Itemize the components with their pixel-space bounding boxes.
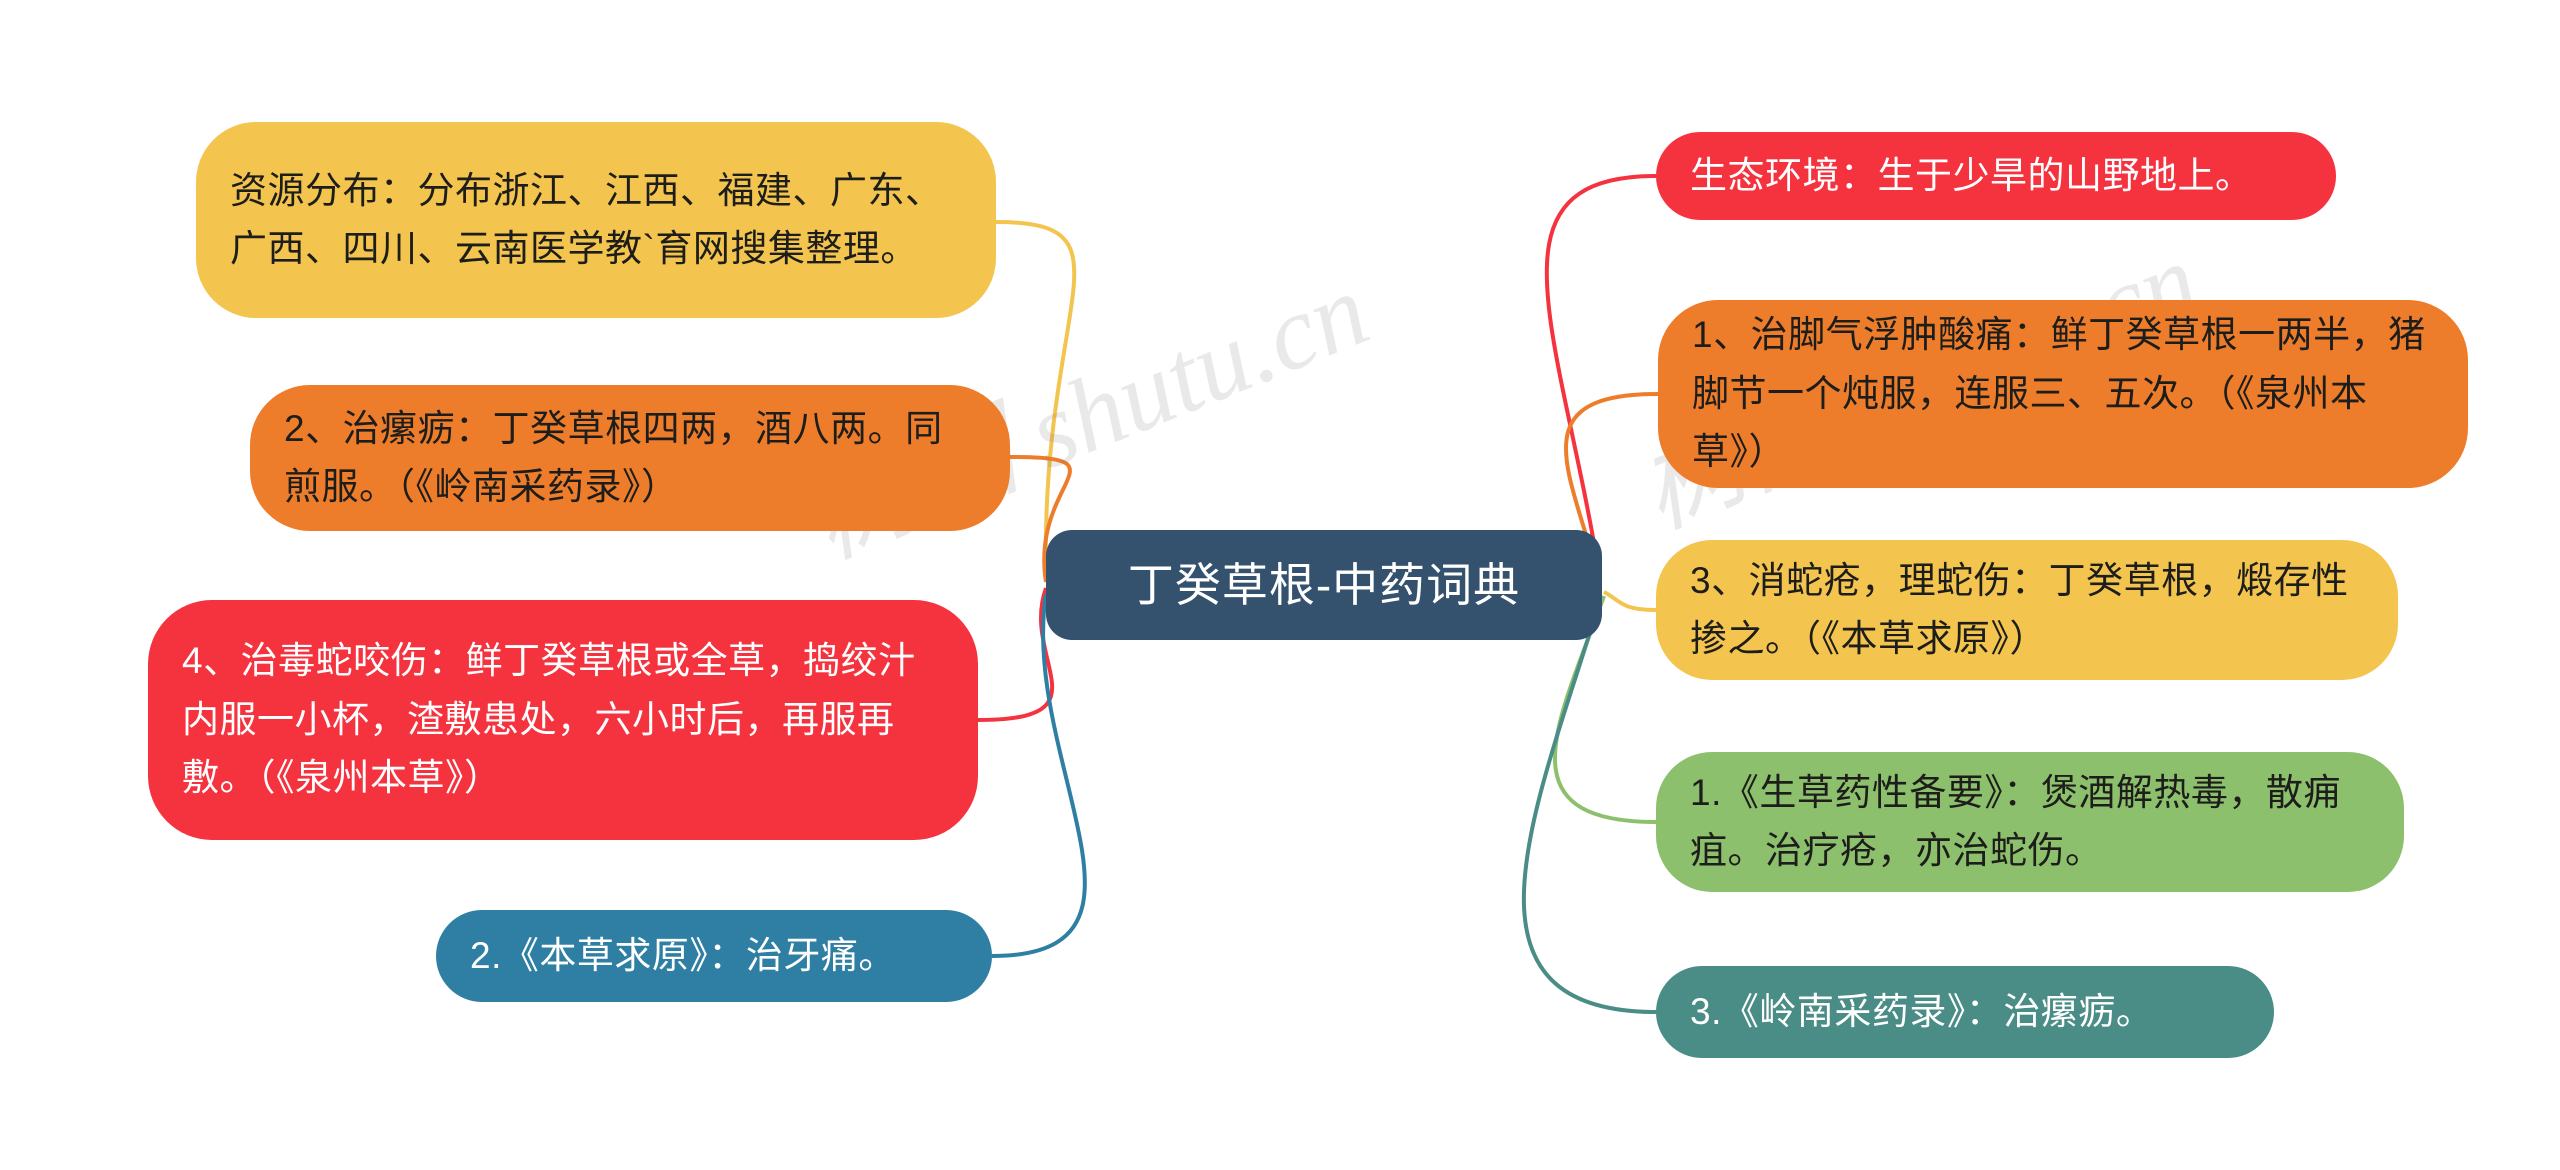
edge-left-1 <box>996 222 1074 578</box>
central-topic-node[interactable]: 丁癸草根-中药词典 <box>1046 530 1602 640</box>
branch-label: 2、治瘰疬：丁癸草根四两，酒八两。同煎服。（《岭南采药录》） <box>284 400 976 517</box>
branch-label: 1.《生草药性备要》：煲酒解热毒，散痈疽。治疗疮，亦治蛇伤。 <box>1690 764 2370 881</box>
branch-node-resource-distribution[interactable]: 资源分布：分布浙江、江西、福建、广东、广西、四川、云南医学教`育网搜集整理。 <box>196 122 996 318</box>
branch-node-treat-snakebite-recipe[interactable]: 4、治毒蛇咬伤：鲜丁癸草根或全草，捣绞汁内服一小杯，渣敷患处，六小时后，再服再敷… <box>148 600 978 840</box>
branch-label: 生态环境：生于少旱的山野地上。 <box>1690 147 2302 205</box>
branch-label: 2.《本草求原》：治牙痛。 <box>470 927 958 985</box>
branch-node-treat-beriberi-recipe[interactable]: 1、治脚气浮肿酸痛：鲜丁癸草根一两半，猪脚节一个炖服，连服三、五次。（《泉州本草… <box>1658 300 2468 488</box>
branch-label: 资源分布：分布浙江、江西、福建、广东、广西、四川、云南医学教`育网搜集整理。 <box>230 162 962 279</box>
branch-node-lingnan-caiyaolu-scrofula[interactable]: 3.《岭南采药录》：治瘰疬。 <box>1656 966 2274 1058</box>
branch-node-shengcaoyao-xingbeiyao[interactable]: 1.《生草药性备要》：煲酒解热毒，散痈疽。治疗疮，亦治蛇伤。 <box>1656 752 2404 892</box>
edge-right-1 <box>1547 176 1656 578</box>
branch-label: 1、治脚气浮肿酸痛：鲜丁癸草根一两半，猪脚节一个炖服，连服三、五次。（《泉州本草… <box>1692 306 2434 481</box>
branch-label: 3.《岭南采药录》：治瘰疬。 <box>1690 983 2240 1041</box>
edge-left-3 <box>978 588 1052 720</box>
branch-node-bencao-qiuyuan-toothache[interactable]: 2.《本草求原》：治牙痛。 <box>436 910 992 1002</box>
branch-label: 4、治毒蛇咬伤：鲜丁癸草根或全草，捣绞汁内服一小杯，渣敷患处，六小时后，再服再敷… <box>182 632 944 807</box>
edge-right-3 <box>1604 592 1656 610</box>
branch-node-treat-snake-sore-recipe[interactable]: 3、消蛇疮，理蛇伤：丁癸草根，煅存性掺之。（《本草求原》） <box>1656 540 2398 680</box>
branch-node-ecological-environment[interactable]: 生态环境：生于少旱的山野地上。 <box>1656 132 2336 220</box>
edge-left-4 <box>992 594 1085 956</box>
branch-label: 3、消蛇疮，理蛇伤：丁癸草根，煅存性掺之。（《本草求原》） <box>1690 552 2364 669</box>
central-topic-label: 丁癸草根-中药词典 <box>1046 549 1602 622</box>
branch-node-treat-scrofula-recipe[interactable]: 2、治瘰疬：丁癸草根四两，酒八两。同煎服。（《岭南采药录》） <box>250 385 1010 531</box>
edge-right-5 <box>1524 600 1656 1012</box>
mindmap-canvas: 树图 shutu.cn 树图 shutu.cn 丁癸草根-中药词典 资源分布：分… <box>0 0 2560 1170</box>
